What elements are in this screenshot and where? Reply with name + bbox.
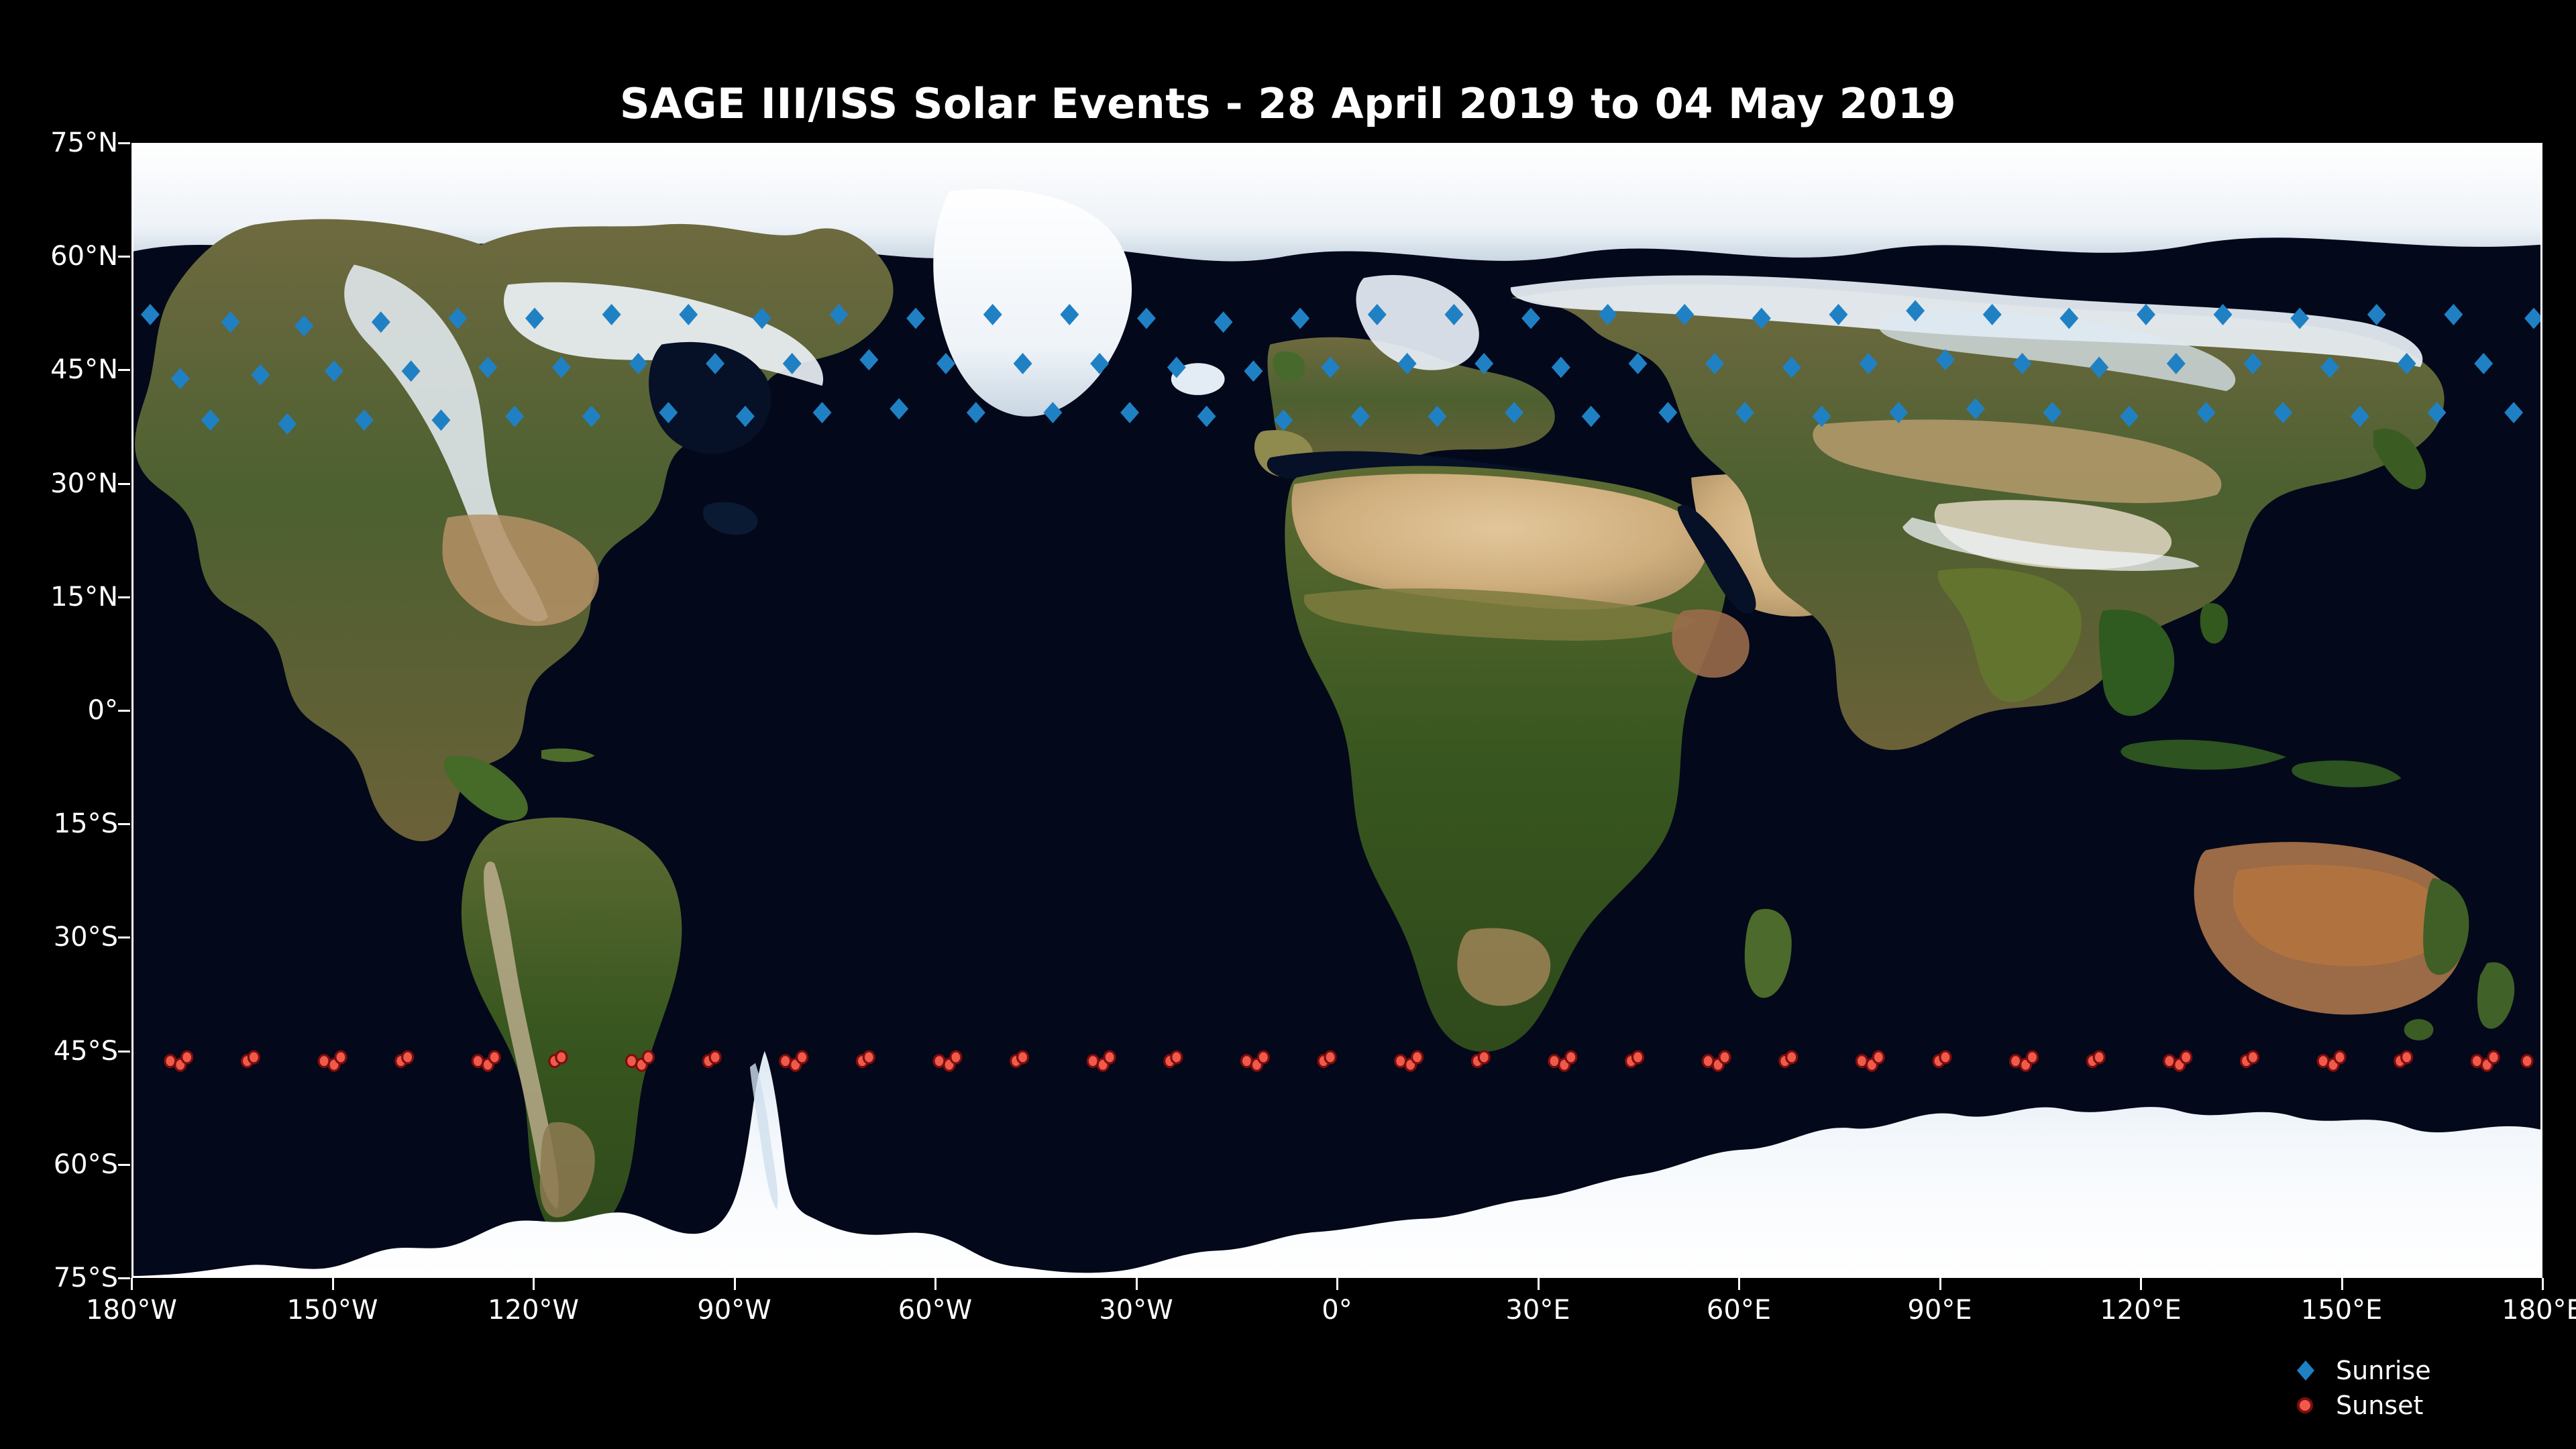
sunrise-marker[interactable] <box>2351 406 2369 427</box>
sunset-marker[interactable] <box>797 1051 808 1063</box>
sunrise-marker[interactable] <box>141 304 160 325</box>
sunset-marker[interactable] <box>1479 1051 1489 1063</box>
sunrise-marker[interactable] <box>2444 304 2463 325</box>
sunrise-marker[interactable] <box>1474 353 1493 374</box>
x-axis-tick-mark <box>131 1278 133 1290</box>
sunrise-marker[interactable] <box>1351 406 1370 427</box>
sunrise-marker[interactable] <box>448 308 467 329</box>
sunset-marker[interactable] <box>1171 1051 1182 1063</box>
page-title: SAGE III/ISS Solar Events - 28 April 201… <box>0 79 2576 128</box>
x-axis-tick-mark <box>934 1278 936 1290</box>
sunset-marker[interactable] <box>402 1051 413 1063</box>
x-axis-tick-mark <box>1336 1278 1338 1290</box>
sunrise-marker[interactable] <box>355 409 374 431</box>
legend-label: Sunrise <box>2336 1356 2431 1385</box>
series-sunset[interactable] <box>165 1051 2532 1071</box>
sunrise-marker[interactable] <box>1966 398 1985 419</box>
sunrise-marker[interactable] <box>1321 357 1340 378</box>
sunrise-marker[interactable] <box>1859 353 1878 374</box>
y-axis-tick-label: 30°S <box>0 922 118 953</box>
sunrise-marker[interactable] <box>2059 308 2078 329</box>
x-axis-tick-mark <box>2140 1278 2142 1290</box>
sunset-marker[interactable] <box>489 1051 500 1063</box>
event-markers-layer[interactable] <box>133 145 2540 1276</box>
sunrise-marker[interactable] <box>2320 357 2339 378</box>
sunset-marker[interactable] <box>1633 1051 1644 1063</box>
sunrise-marker[interactable] <box>505 406 524 427</box>
sunset-marker[interactable] <box>335 1051 346 1063</box>
y-axis-tick-label: 15°N <box>0 582 118 612</box>
sunset-marker[interactable] <box>1873 1051 1884 1063</box>
sunrise-marker[interactable] <box>1167 357 1186 378</box>
y-axis-tick-mark <box>118 1277 130 1279</box>
sunset-marker[interactable] <box>2027 1051 2038 1063</box>
sunrise-marker[interactable] <box>936 353 955 374</box>
sunrise-marker[interactable] <box>251 364 270 386</box>
sunrise-marker[interactable] <box>1658 402 1677 423</box>
sunrise-marker[interactable] <box>552 357 571 378</box>
sunrise-marker[interactable] <box>2197 402 2216 423</box>
y-axis-tick-mark <box>118 823 130 825</box>
sunrise-marker[interactable] <box>1735 402 1754 423</box>
sunrise-marker[interactable] <box>1521 308 1540 329</box>
sunset-marker[interactable] <box>1719 1051 1730 1063</box>
sunrise-marker[interactable] <box>1552 357 1570 378</box>
sunrise-marker[interactable] <box>1889 402 1908 423</box>
sunrise-marker[interactable] <box>602 304 621 325</box>
sunrise-marker[interactable] <box>2398 353 2416 374</box>
sunset-marker[interactable] <box>2522 1055 2532 1067</box>
sunrise-marker[interactable] <box>1014 353 1032 374</box>
x-axis-tick-mark <box>2542 1278 2544 1290</box>
sunrise-marker[interactable] <box>2167 353 2186 374</box>
x-axis-tick-mark <box>734 1278 736 1290</box>
sunset-marker[interactable] <box>1018 1051 1028 1063</box>
sunrise-marker[interactable] <box>906 308 925 329</box>
x-axis-tick-mark <box>1738 1278 1740 1290</box>
y-axis-tick-mark <box>118 142 130 144</box>
x-axis-tick-label: 90°W <box>697 1295 771 1326</box>
sunset-marker[interactable] <box>863 1051 874 1063</box>
x-axis-tick-mark <box>2341 1278 2343 1290</box>
sunrise-marker[interactable] <box>525 308 544 329</box>
y-axis-tick-mark <box>118 369 130 371</box>
y-axis-tick-label: 15°S <box>0 808 118 839</box>
sunrise-marker[interactable] <box>890 398 908 419</box>
sunrise-marker[interactable] <box>967 402 985 423</box>
sunset-marker[interactable] <box>951 1051 961 1063</box>
sunrise-marker[interactable] <box>859 349 878 370</box>
sunrise-marker[interactable] <box>2013 353 2032 374</box>
x-axis-tick-label: 0° <box>1322 1295 1352 1326</box>
sunrise-marker[interactable] <box>1060 304 1079 325</box>
x-axis-tick-label: 180°E <box>2502 1295 2576 1326</box>
x-axis-tick-mark <box>1136 1278 1138 1290</box>
sunrise-marker[interactable] <box>1505 402 1523 423</box>
sunrise-marker[interactable] <box>629 353 648 374</box>
sunrise-marker[interactable] <box>2367 304 2386 325</box>
sunrise-marker[interactable] <box>1137 308 1156 329</box>
sunset-marker[interactable] <box>1104 1051 1115 1063</box>
x-axis-tick-mark <box>1939 1278 1941 1290</box>
sunrise-marker[interactable] <box>2290 308 2309 329</box>
sunrise-marker[interactable] <box>1675 304 1694 325</box>
y-axis-tick-label: 60°N <box>0 241 118 272</box>
y-axis-tick-label: 45°S <box>0 1036 118 1067</box>
sunset-marker[interactable] <box>1412 1051 1423 1063</box>
sunrise-marker[interactable] <box>171 368 190 389</box>
sunrise-marker[interactable] <box>478 357 497 378</box>
sunset-marker[interactable] <box>2334 1051 2345 1063</box>
x-axis-tick-label: 60°W <box>898 1295 972 1326</box>
sunrise-marker[interactable] <box>1829 304 1848 325</box>
y-axis-tick-mark <box>118 256 130 258</box>
sunset-marker[interactable] <box>248 1051 259 1063</box>
sunrise-marker[interactable] <box>1444 304 1463 325</box>
sunrise-marker[interactable] <box>2504 402 2523 423</box>
sunrise-marker[interactable] <box>1936 349 1955 370</box>
sunrise-marker[interactable] <box>736 406 755 427</box>
sunrise-marker[interactable] <box>2243 353 2262 374</box>
sunrise-marker[interactable] <box>1274 409 1293 431</box>
x-axis-tick-label: 150°W <box>287 1295 378 1326</box>
legend-item-sunrise[interactable]: Sunrise <box>2297 1355 2431 1386</box>
sunrise-marker[interactable] <box>2474 353 2493 374</box>
sunrise-marker[interactable] <box>1291 308 1309 329</box>
sunset-marker[interactable] <box>643 1051 653 1063</box>
sunrise-marker[interactable] <box>1599 304 1617 325</box>
sunrise-marker[interactable] <box>813 402 832 423</box>
sunset-marker[interactable] <box>1940 1051 1951 1063</box>
sunset-marker[interactable] <box>1566 1051 1576 1063</box>
sunrise-marker[interactable] <box>1983 304 2002 325</box>
sunrise-marker[interactable] <box>1629 353 1648 374</box>
x-axis-tick-label: 120°W <box>488 1295 579 1326</box>
legend-item-sunset[interactable]: Sunset <box>2297 1390 2423 1421</box>
sunrise-marker[interactable] <box>1813 406 1831 427</box>
x-axis-tick-label: 180°W <box>86 1295 177 1326</box>
sunset-marker[interactable] <box>1786 1051 1797 1063</box>
y-axis-tick-label: 45°N <box>0 354 118 385</box>
x-axis-tick-label: 150°E <box>2301 1295 2383 1326</box>
sunrise-marker[interactable] <box>582 406 601 427</box>
sunrise-marker[interactable] <box>679 304 698 325</box>
sunrise-marker[interactable] <box>201 409 220 431</box>
sunset-marker[interactable] <box>2094 1051 2104 1063</box>
sunrise-marker[interactable] <box>1120 402 1139 423</box>
x-axis-tick-label: 90°E <box>1907 1295 1972 1326</box>
x-axis-tick-mark <box>332 1278 334 1290</box>
sunrise-marker[interactable] <box>1398 353 1417 374</box>
sunrise-marker[interactable] <box>221 311 240 333</box>
sunrise-marker[interactable] <box>830 304 849 325</box>
sunrise-marker[interactable] <box>1705 353 1724 374</box>
sunrise-marker[interactable] <box>1043 402 1062 423</box>
y-axis-tick-label: 75°S <box>0 1263 118 1293</box>
sunrise-marker[interactable] <box>1428 406 1447 427</box>
y-axis-tick-mark <box>118 1051 130 1053</box>
sunrise-marker[interactable] <box>1368 304 1387 325</box>
sunrise-marker[interactable] <box>325 360 343 382</box>
sunrise-marker[interactable] <box>1090 353 1109 374</box>
sunrise-marker[interactable] <box>2428 402 2447 423</box>
sunset-marker[interactable] <box>2247 1051 2258 1063</box>
sunrise-marker[interactable] <box>402 360 421 382</box>
sunrise-marker[interactable] <box>1782 357 1801 378</box>
sunrise-marker[interactable] <box>2524 308 2540 329</box>
sunrise-marker[interactable] <box>372 311 390 333</box>
x-axis-tick-label: 30°E <box>1505 1295 1570 1326</box>
sunrise-marker[interactable] <box>1214 311 1233 333</box>
y-axis-tick-mark <box>118 710 130 712</box>
y-axis-tick-mark <box>118 483 130 485</box>
sunrise-marker[interactable] <box>706 353 724 374</box>
sunrise-marker[interactable] <box>1244 360 1263 382</box>
x-axis-tick-label: 60°E <box>1707 1295 1771 1326</box>
sunrise-marker[interactable] <box>783 353 802 374</box>
sunrise-marker[interactable] <box>1906 300 1925 321</box>
y-axis-tick-label: 0° <box>0 695 118 726</box>
sunrise-marker[interactable] <box>659 402 678 423</box>
x-axis-tick-mark <box>533 1278 535 1290</box>
sunrise-marker[interactable] <box>1582 406 1601 427</box>
sunrise-marker[interactable] <box>1197 406 1216 427</box>
sunrise-swatch-icon <box>2297 1360 2314 1381</box>
sunrise-marker[interactable] <box>2273 402 2292 423</box>
y-axis-tick-label: 60°S <box>0 1149 118 1180</box>
sunset-marker[interactable] <box>556 1051 567 1063</box>
map-plot-area[interactable] <box>131 143 2542 1278</box>
series-sunrise[interactable] <box>141 300 2540 434</box>
y-axis-tick-mark <box>118 1164 130 1166</box>
sunrise-marker[interactable] <box>2043 402 2061 423</box>
sunrise-marker[interactable] <box>2090 357 2108 378</box>
sunrise-marker[interactable] <box>2137 304 2155 325</box>
sunset-marker[interactable] <box>710 1051 720 1063</box>
y-axis-tick-mark <box>118 596 130 598</box>
legend-label: Sunset <box>2336 1391 2423 1420</box>
legend: SunriseSunset <box>2297 1355 2525 1429</box>
sunrise-marker[interactable] <box>1752 308 1771 329</box>
x-axis-tick-label: 120°E <box>2100 1295 2182 1326</box>
sunrise-marker[interactable] <box>431 409 450 431</box>
x-axis-tick-mark <box>1538 1278 1540 1290</box>
sunrise-marker[interactable] <box>294 315 313 337</box>
sunrise-marker[interactable] <box>983 304 1002 325</box>
sunrise-marker[interactable] <box>278 413 297 435</box>
sunset-marker[interactable] <box>2402 1051 2412 1063</box>
x-axis-tick-label: 30°W <box>1099 1295 1173 1326</box>
figure-root: SAGE III/ISS Solar Events - 28 April 201… <box>0 0 2576 1449</box>
sunset-marker[interactable] <box>1325 1051 1336 1063</box>
y-axis-tick-label: 30°N <box>0 468 118 499</box>
sunrise-marker[interactable] <box>2120 406 2139 427</box>
sunset-marker[interactable] <box>2181 1051 2192 1063</box>
sunset-marker[interactable] <box>182 1051 193 1063</box>
sunset-marker[interactable] <box>2488 1051 2499 1063</box>
sunrise-marker[interactable] <box>753 308 771 329</box>
sunset-swatch-icon <box>2297 1397 2313 1413</box>
sunset-marker[interactable] <box>1258 1051 1269 1063</box>
sunrise-marker[interactable] <box>2214 304 2233 325</box>
y-axis-tick-label: 75°N <box>0 127 118 158</box>
y-axis-tick-mark <box>118 936 130 938</box>
